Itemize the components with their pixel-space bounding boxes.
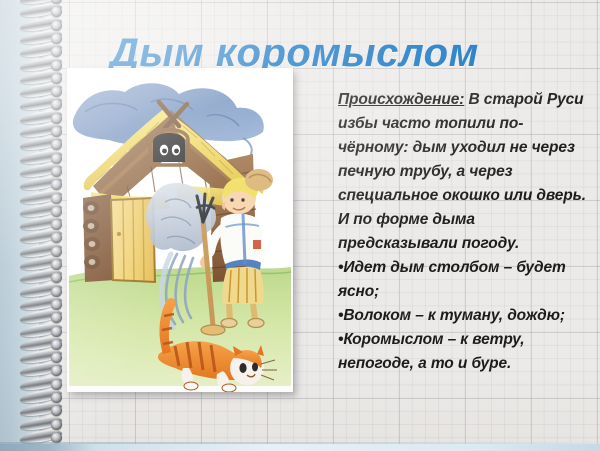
origin-lead-label: Происхождение: bbox=[338, 91, 464, 108]
spiral-ring bbox=[18, 205, 64, 218]
spiral-ring-hole bbox=[51, 139, 62, 150]
spiral-ring-hole bbox=[51, 379, 62, 390]
bullet-item-3: •Коромыслом – к ветру, непогоде, а то и … bbox=[338, 328, 588, 376]
spiral-ring bbox=[18, 138, 64, 151]
spiral-ring bbox=[18, 72, 64, 85]
spiral-ring bbox=[18, 59, 64, 72]
spiral-ring bbox=[18, 231, 64, 244]
bullet-text: Волоком – к туману, дождю; bbox=[343, 307, 565, 324]
spiral-ring bbox=[18, 125, 64, 138]
spiral-ring bbox=[18, 45, 64, 58]
spiral-ring-hole bbox=[51, 272, 62, 283]
spiral-ring-hole bbox=[51, 153, 62, 164]
spiral-ring-hole bbox=[51, 299, 62, 310]
spiral-ring bbox=[18, 165, 64, 178]
spiral-ring-hole bbox=[51, 219, 62, 230]
spiral-ring bbox=[18, 85, 64, 98]
spiral-ring bbox=[18, 19, 64, 32]
spiral-ring bbox=[18, 285, 64, 298]
spiral-ring-hole bbox=[51, 206, 62, 217]
spiral-ring-hole bbox=[51, 113, 62, 124]
spiral-ring bbox=[18, 245, 64, 258]
spiral-ring-hole bbox=[51, 86, 62, 97]
spiral-ring bbox=[18, 152, 64, 165]
origin-text-block: Происхождение: В старой Руси избы часто … bbox=[338, 88, 588, 376]
spiral-ring-hole bbox=[51, 232, 62, 243]
spiral-ring-hole bbox=[51, 326, 62, 337]
bottom-accent-strip bbox=[0, 444, 600, 451]
spiral-ring-hole bbox=[51, 286, 62, 297]
bullet-item-1: •Идет дым столбом – будет ясно; bbox=[338, 256, 588, 304]
spiral-ring bbox=[18, 112, 64, 125]
spiral-ring-hole bbox=[51, 259, 62, 270]
spiral-ring-hole bbox=[51, 46, 62, 57]
spiral-ring-hole bbox=[51, 339, 62, 350]
illustration-photo bbox=[67, 68, 293, 392]
spiral-ring-hole bbox=[51, 20, 62, 31]
spiral-ring-hole bbox=[51, 60, 62, 71]
origin-paragraph: Происхождение: В старой Руси избы часто … bbox=[338, 88, 588, 256]
izba-watercolor-illustration bbox=[67, 68, 293, 392]
spiral-ring bbox=[18, 178, 64, 191]
spiral-ring bbox=[18, 364, 64, 377]
spiral-ring bbox=[18, 192, 64, 205]
origin-paragraph-text: В старой Руси избы часто топили по-чёрно… bbox=[338, 91, 586, 252]
spiral-ring bbox=[18, 378, 64, 391]
spiral-ring-hole bbox=[51, 6, 62, 17]
spiral-ring bbox=[18, 298, 64, 311]
spiral-ring bbox=[18, 325, 64, 338]
spiral-ring bbox=[18, 218, 64, 231]
spiral-ring-hole bbox=[51, 33, 62, 44]
bullet-text: Коромыслом – к ветру, непогоде, а то и б… bbox=[338, 331, 524, 372]
bullet-text: Идет дым столбом – будет ясно; bbox=[338, 259, 566, 300]
spiral-ring-hole bbox=[51, 179, 62, 190]
spiral-ring bbox=[18, 404, 64, 417]
spiral-ring-hole bbox=[51, 73, 62, 84]
spiral-ring bbox=[18, 418, 64, 431]
spiral-ring-hole bbox=[51, 166, 62, 177]
bullet-item-2: •Волоком – к туману, дождю; bbox=[338, 304, 588, 328]
spiral-ring-hole bbox=[51, 405, 62, 416]
spiral-binding bbox=[18, 0, 68, 451]
spiral-ring bbox=[18, 351, 64, 364]
spiral-ring bbox=[18, 271, 64, 284]
spiral-ring bbox=[18, 391, 64, 404]
spiral-ring bbox=[18, 258, 64, 271]
spiral-ring bbox=[18, 32, 64, 45]
spiral-ring-hole bbox=[51, 392, 62, 403]
spiral-ring bbox=[18, 338, 64, 351]
spiral-ring-hole bbox=[51, 99, 62, 110]
spiral-ring-hole bbox=[51, 312, 62, 323]
spiral-ring-hole bbox=[51, 352, 62, 363]
spiral-ring bbox=[18, 5, 64, 18]
spiral-ring bbox=[18, 98, 64, 111]
spiral-ring-hole bbox=[51, 246, 62, 257]
spiral-ring-hole bbox=[51, 419, 62, 430]
spiral-ring-hole bbox=[51, 193, 62, 204]
spiral-ring-hole bbox=[51, 365, 62, 376]
slide-canvas: Дым коромыслом bbox=[0, 0, 600, 451]
spiral-ring bbox=[18, 311, 64, 324]
spiral-ring-hole bbox=[51, 126, 62, 137]
